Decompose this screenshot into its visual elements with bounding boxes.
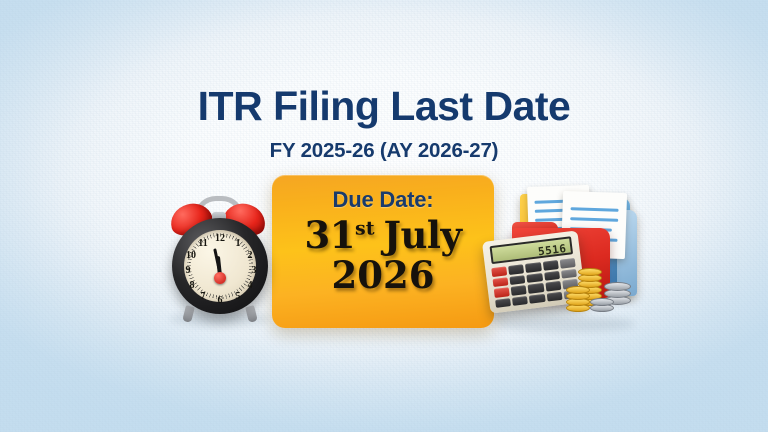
page-subtitle: FY 2025-26 (AY 2026-27) bbox=[0, 139, 768, 163]
clock-numeral: 8 bbox=[185, 281, 199, 291]
clock-numeral: 3 bbox=[247, 266, 261, 276]
clock-foot-right bbox=[245, 305, 258, 323]
clock-numeral: 2 bbox=[243, 251, 257, 261]
clock-numeral: 7 bbox=[196, 292, 210, 302]
clock-numeral: 9 bbox=[181, 266, 195, 276]
poster-canvas: ITR Filing Last Date FY 2025-26 (AY 2026… bbox=[0, 0, 768, 432]
clock-numeral: 4 bbox=[243, 281, 257, 291]
clock-numeral: 5 bbox=[231, 292, 245, 302]
due-date-card: Due Date: 31stJuly 2026 bbox=[272, 175, 494, 328]
due-date-year: 2026 bbox=[272, 257, 494, 294]
due-date-month: July bbox=[384, 213, 462, 257]
due-date-day: 31 bbox=[305, 213, 356, 257]
due-date-day-month: 31stJuly bbox=[272, 217, 494, 254]
clock-numeral: 12 bbox=[213, 234, 227, 244]
due-date-day-suffix: st bbox=[355, 218, 374, 240]
page-title: ITR Filing Last Date bbox=[0, 85, 768, 128]
clock-numeral: 6 bbox=[213, 296, 227, 306]
alarm-clock-icon: 12 1 2 3 4 5 6 7 8 9 10 11 bbox=[164, 194, 276, 324]
clock-numeral: 1 bbox=[231, 239, 245, 249]
due-date-label: Due Date: bbox=[272, 187, 494, 213]
clock-numeral: 11 bbox=[196, 239, 210, 249]
clock-center-pin bbox=[214, 272, 226, 284]
calculator-display-value: 5516 bbox=[537, 242, 567, 258]
clock-foot-left bbox=[182, 305, 195, 323]
clock-numeral: 10 bbox=[184, 251, 198, 261]
desk-illustration: 5516 bbox=[486, 176, 646, 328]
